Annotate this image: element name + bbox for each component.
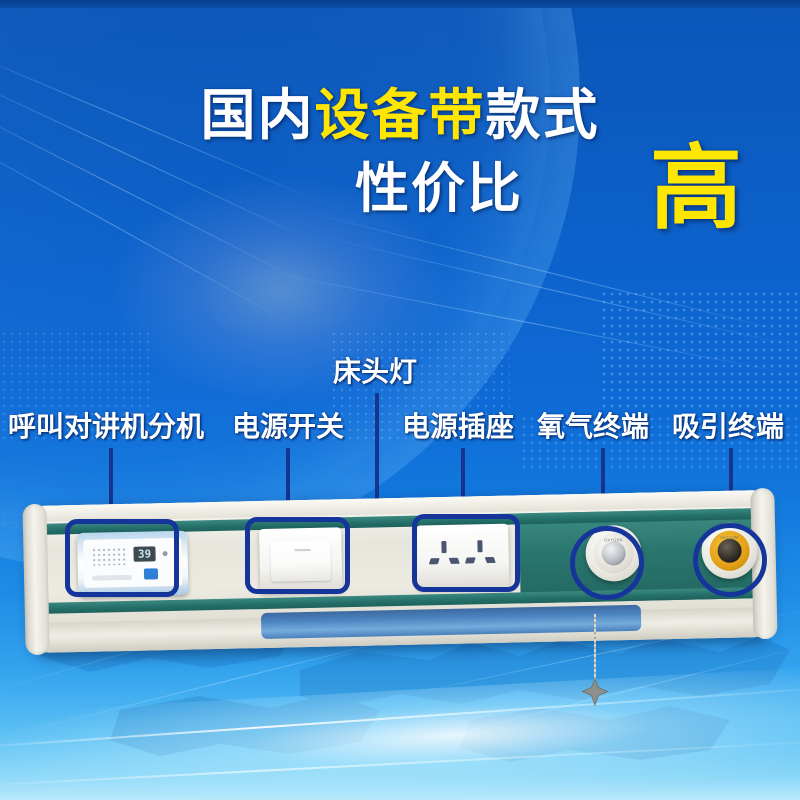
callout-label-power-switch: 电源开关: [232, 413, 344, 441]
callout-label-suction: 吸引终端: [672, 413, 784, 441]
highlight-box-power-socket: [412, 514, 520, 592]
top-band: [0, 0, 800, 8]
pull-cord-handle-icon[interactable]: [581, 678, 609, 706]
halftone-dots-right: [600, 290, 800, 410]
highlight-circle-oxygen: [570, 526, 644, 600]
callout-label-intercom: 呼叫对讲机分机: [8, 413, 204, 441]
highlight-box-power-switch: [245, 517, 350, 594]
callout-label-oxygen: 氧气终端: [537, 413, 649, 441]
highlight-box-intercom: [65, 519, 179, 597]
pull-cord-chain[interactable]: [594, 614, 596, 684]
highlight-circle-suction: [693, 523, 767, 597]
panel-end-cap-left: [22, 504, 49, 655]
poster-canvas: 国内设备带款式 性价比 高 呼叫对讲机分机 电源开关 床头灯 电源插座 氧气终端…: [0, 0, 800, 800]
callout-label-power-socket: 电源插座: [402, 413, 514, 441]
callout-label-bedside-light: 床头灯: [333, 358, 417, 386]
